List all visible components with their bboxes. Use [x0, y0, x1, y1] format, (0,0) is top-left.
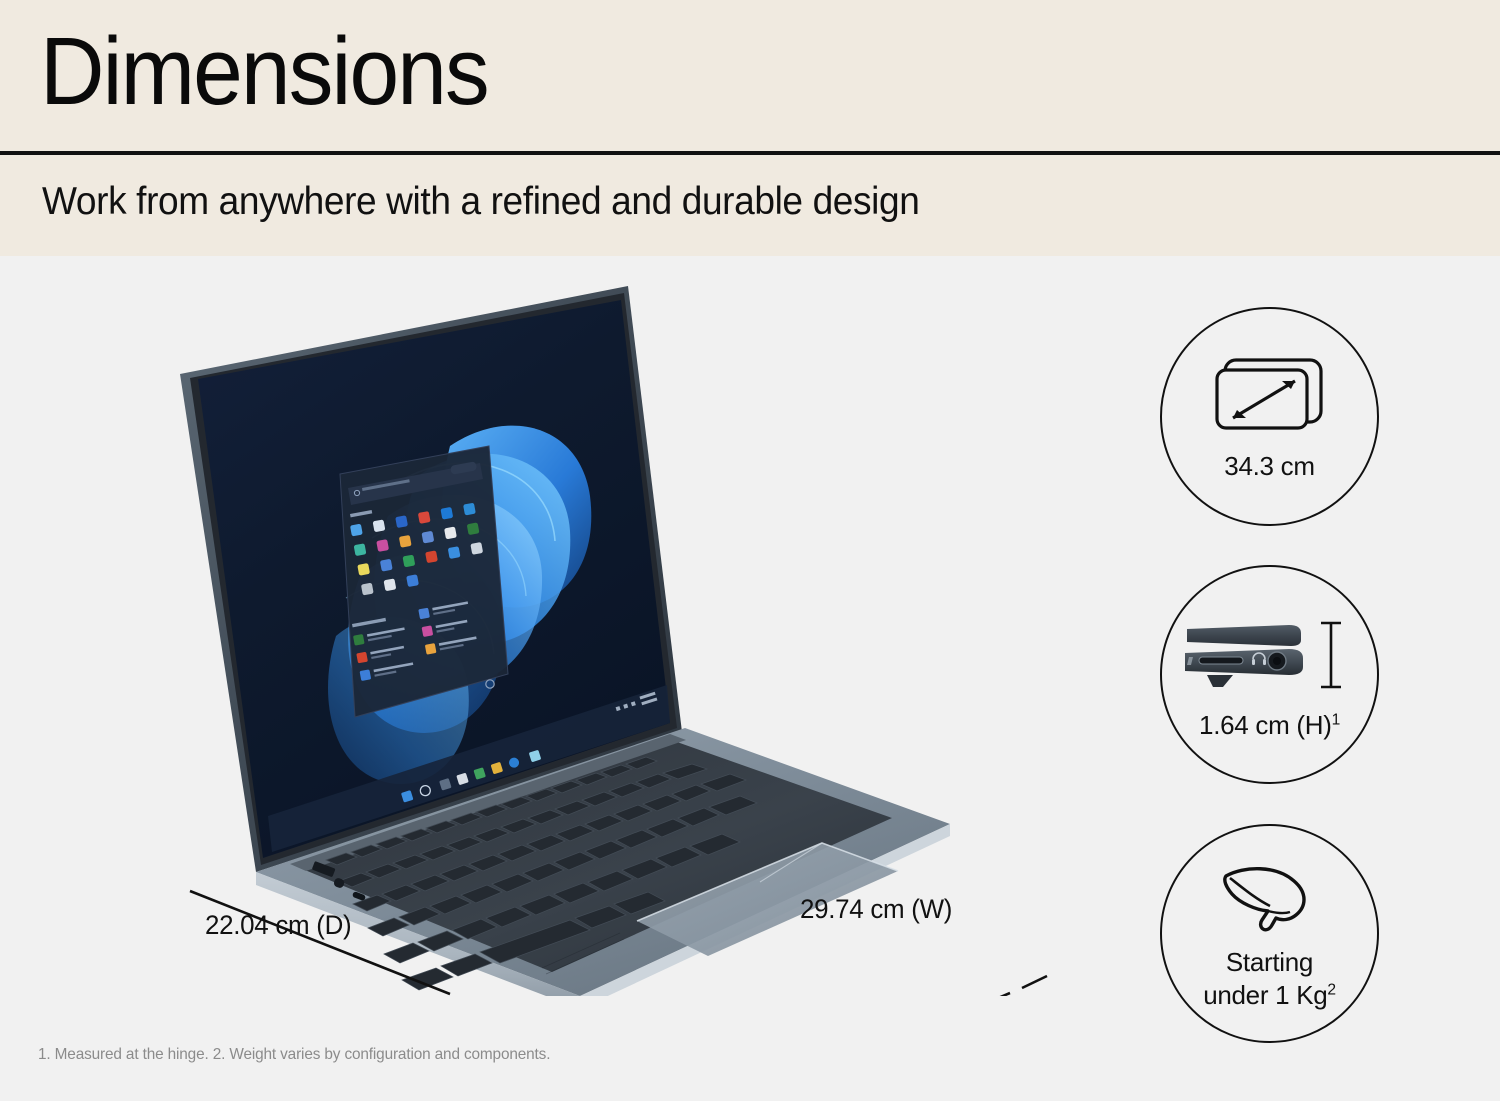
width-dimension-line [743, 993, 1010, 996]
screen-diagonal-icon [1211, 350, 1329, 442]
height-footnote-marker: 1 [1332, 712, 1340, 729]
dimensions-infographic: Dimensions Work from anywhere with a ref… [0, 0, 1500, 1101]
height-text: 1.64 cm (H) [1199, 710, 1332, 740]
depth-dimension-label: 22.04 cm (D) [205, 910, 351, 941]
weight-value: Starting under 1 Kg2 [1203, 946, 1336, 1010]
page-header: Dimensions Work from anywhere with a ref… [0, 0, 1500, 256]
laptop-product-image [150, 276, 1050, 996]
weight-footnote-marker: 2 [1327, 981, 1335, 998]
badge-height: 1.64 cm (H)1 [1160, 565, 1379, 784]
content-stage: 22.04 cm (D) 29.74 cm (W) 1. Measured at… [0, 256, 1500, 1101]
weight-line-1: Starting [1203, 946, 1336, 978]
header-divider [0, 151, 1500, 155]
feather-icon [1210, 856, 1330, 942]
page-title: Dimensions [40, 18, 488, 126]
badge-weight: Starting under 1 Kg2 [1160, 824, 1379, 1043]
width-dimension-label: 29.74 cm (W) [800, 894, 952, 925]
screen-size-text: 34.3 cm [1224, 451, 1314, 481]
badge-screen-size: 34.3 cm [1160, 307, 1379, 526]
page-subtitle: Work from anywhere with a refined and du… [42, 180, 919, 224]
windows-start-menu [340, 446, 508, 717]
weight-line-2-text: under 1 Kg [1203, 980, 1327, 1010]
laptop-side-profile-icon [1185, 607, 1355, 703]
weight-line-2: under 1 Kg2 [1203, 979, 1336, 1011]
screen-size-value: 34.3 cm [1224, 450, 1314, 482]
footnote-text: 1. Measured at the hinge. 2. Weight vari… [38, 1046, 550, 1064]
height-value: 1.64 cm (H)1 [1199, 709, 1340, 741]
